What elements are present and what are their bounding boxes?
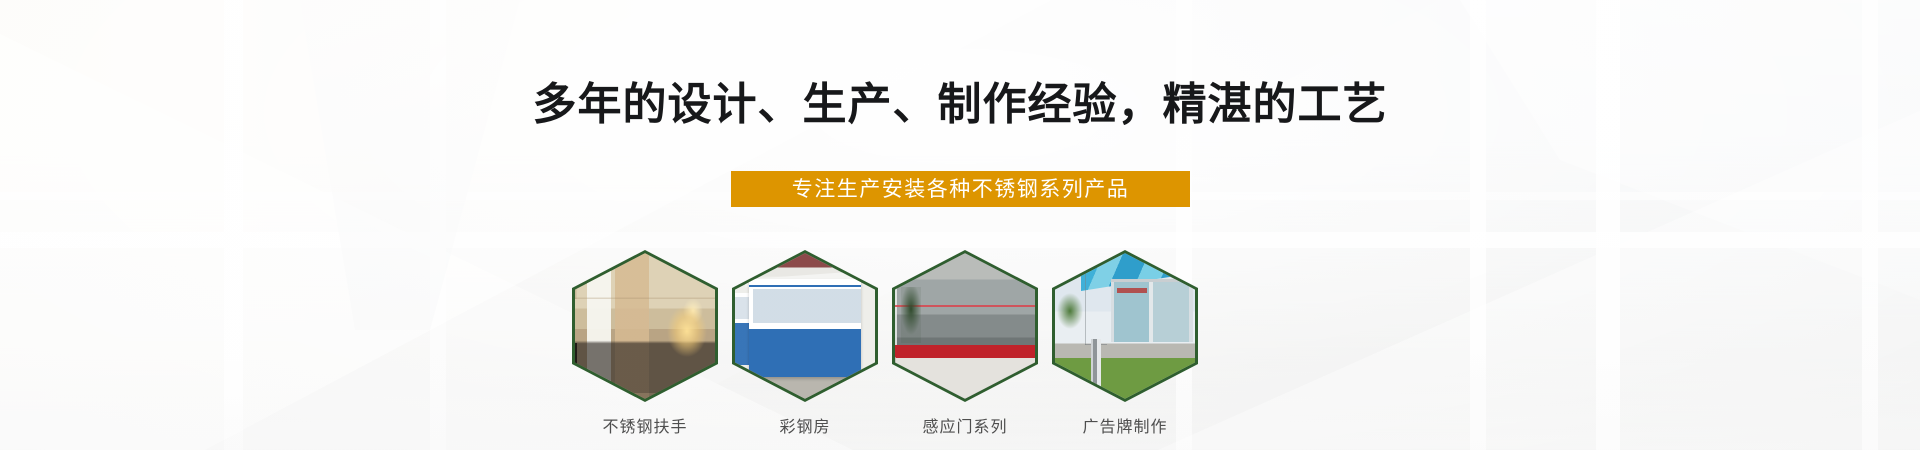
hero-banner: 多年的设计、生产、制作经验，精湛的工艺 专注生产安装各种不锈钢系列产品 不锈钢扶…: [0, 0, 1920, 450]
billboard-pole: [1091, 339, 1101, 395]
billboard-perforated-post: [1085, 273, 1107, 345]
hexagon-image-clip: [575, 253, 715, 399]
product-item-color-steel-house[interactable]: 彩钢房: [732, 250, 878, 437]
product-hexagon-row: 不锈钢扶手 彩钢房: [0, 250, 1920, 450]
product-image-billboard: [1055, 253, 1195, 399]
hexagon-frame: [572, 250, 718, 402]
railing-balusters: [575, 343, 715, 397]
product-label: 不锈钢扶手: [572, 413, 718, 437]
hexagon-image-clip: [735, 253, 875, 399]
product-item-billboard[interactable]: 广告牌制作: [1052, 250, 1198, 437]
hexagon-image-clip: [1055, 253, 1195, 399]
hexagon-frame: [732, 250, 878, 402]
billboard-tree: [1057, 293, 1083, 333]
booth-main-body: [749, 279, 861, 377]
product-label: 彩钢房: [732, 413, 878, 437]
product-image-color-steel-house: [735, 253, 875, 399]
door-ceiling: [895, 253, 1035, 277]
product-item-stainless-handrail[interactable]: 不锈钢扶手: [572, 250, 718, 437]
product-label: 感应门系列: [892, 413, 1038, 437]
billboard-panel: [1111, 279, 1193, 342]
subtitle-banner-text: 专注生产安装各种不锈钢系列产品: [792, 171, 1130, 207]
product-item-sensor-door[interactable]: 感应门系列: [892, 250, 1038, 437]
product-label: 广告牌制作: [1052, 413, 1198, 437]
banner-headline: 多年的设计、生产、制作经验，精湛的工艺: [0, 76, 1920, 134]
product-image-stainless-handrail: [575, 253, 715, 399]
door-floor-tiles: [895, 357, 1035, 399]
product-image-sensor-door: [895, 253, 1035, 399]
hexagon-frame: [892, 250, 1038, 402]
hexagon-frame: [1052, 250, 1198, 402]
door-potted-plant: [901, 287, 921, 343]
subtitle-banner: 专注生产安装各种不锈钢系列产品: [731, 171, 1190, 207]
hexagon-image-clip: [895, 253, 1035, 399]
